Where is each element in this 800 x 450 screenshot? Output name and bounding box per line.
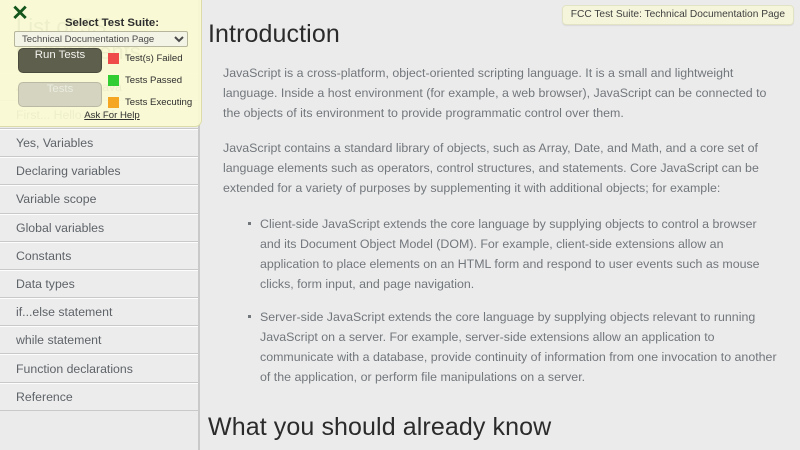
intro-bullet-list: Client-side JavaScript extends the core … (208, 214, 790, 388)
sidebar-item-data-types[interactable]: Data types (0, 270, 198, 298)
sidebar-item-while-statement[interactable]: while statement (0, 326, 198, 354)
sidebar-item-label: Yes, Variables (16, 136, 93, 150)
legend-label: Test(s) Failed (125, 53, 183, 64)
sidebar-item-label: Global variables (16, 221, 104, 235)
test-status-legend: Test(s) FailedTests PassedTests Executin… (108, 50, 200, 116)
legend-swatch-tests-executing (108, 97, 119, 108)
sidebar-item-reference[interactable]: Reference (0, 383, 198, 411)
sidebar-item-yes-variables[interactable]: Yes, Variables (0, 129, 198, 157)
sidebar-item-label: while statement (16, 333, 101, 347)
list-item: Client-side JavaScript extends the core … (208, 214, 790, 294)
select-test-suite-label: Select Test Suite: (0, 17, 202, 29)
tests-button[interactable]: Tests (18, 82, 102, 107)
sidebar-item-label: Declaring variables (16, 164, 121, 178)
sidebar-item-constants[interactable]: Constants (0, 242, 198, 270)
sidebar-item-variable-scope[interactable]: Variable scope (0, 185, 198, 213)
main-document: Introduction JavaScript is a cross-platf… (202, 0, 800, 450)
list-item: Server-side JavaScript extends the core … (208, 307, 790, 387)
intro-paragraph-2: JavaScript contains a standard library o… (208, 138, 790, 198)
sidebar-item-label: Reference (16, 390, 73, 404)
legend-row: Test(s) Failed (108, 50, 200, 67)
test-runner-panel: ✕ Select Test Suite: Technical Documenta… (0, 0, 202, 127)
legend-row: Tests Passed (108, 72, 200, 89)
sidebar-item-declaring-variables[interactable]: Declaring variables (0, 157, 198, 185)
legend-swatch-test-s-failed (108, 53, 119, 64)
sidebar-item-if-else-statement[interactable]: if...else statement (0, 298, 198, 326)
sidebar-item-label: Function declarations (16, 362, 133, 376)
sidebar-item-global-variables[interactable]: Global variables (0, 214, 198, 242)
tests-label: Tests (47, 83, 74, 95)
fcc-test-suite-badge: FCC Test Suite: Technical Documentation … (562, 5, 794, 25)
sidebar-item-label: Variable scope (16, 192, 96, 206)
legend-label: Tests Executing (125, 97, 192, 108)
legend-label: Tests Passed (125, 75, 182, 86)
test-suite-select[interactable]: Technical Documentation Page (14, 31, 188, 47)
run-tests-label: Run Tests (35, 49, 85, 61)
intro-paragraph-1: JavaScript is a cross-platform, object-o… (208, 63, 790, 123)
legend-swatch-tests-passed (108, 75, 119, 86)
sidebar-item-label: Data types (16, 277, 75, 291)
sidebar-item-function-declarations[interactable]: Function declarations (0, 354, 198, 382)
section-heading-what-you-should-already-know: What you should already know (208, 413, 790, 442)
legend-row: Tests Executing (108, 94, 200, 111)
run-tests-button[interactable]: Run Tests (18, 48, 102, 73)
sidebar-item-label: Constants (16, 249, 71, 263)
sidebar-item-label: if...else statement (16, 305, 112, 319)
ask-for-help-link[interactable]: Ask For Help (0, 110, 202, 121)
